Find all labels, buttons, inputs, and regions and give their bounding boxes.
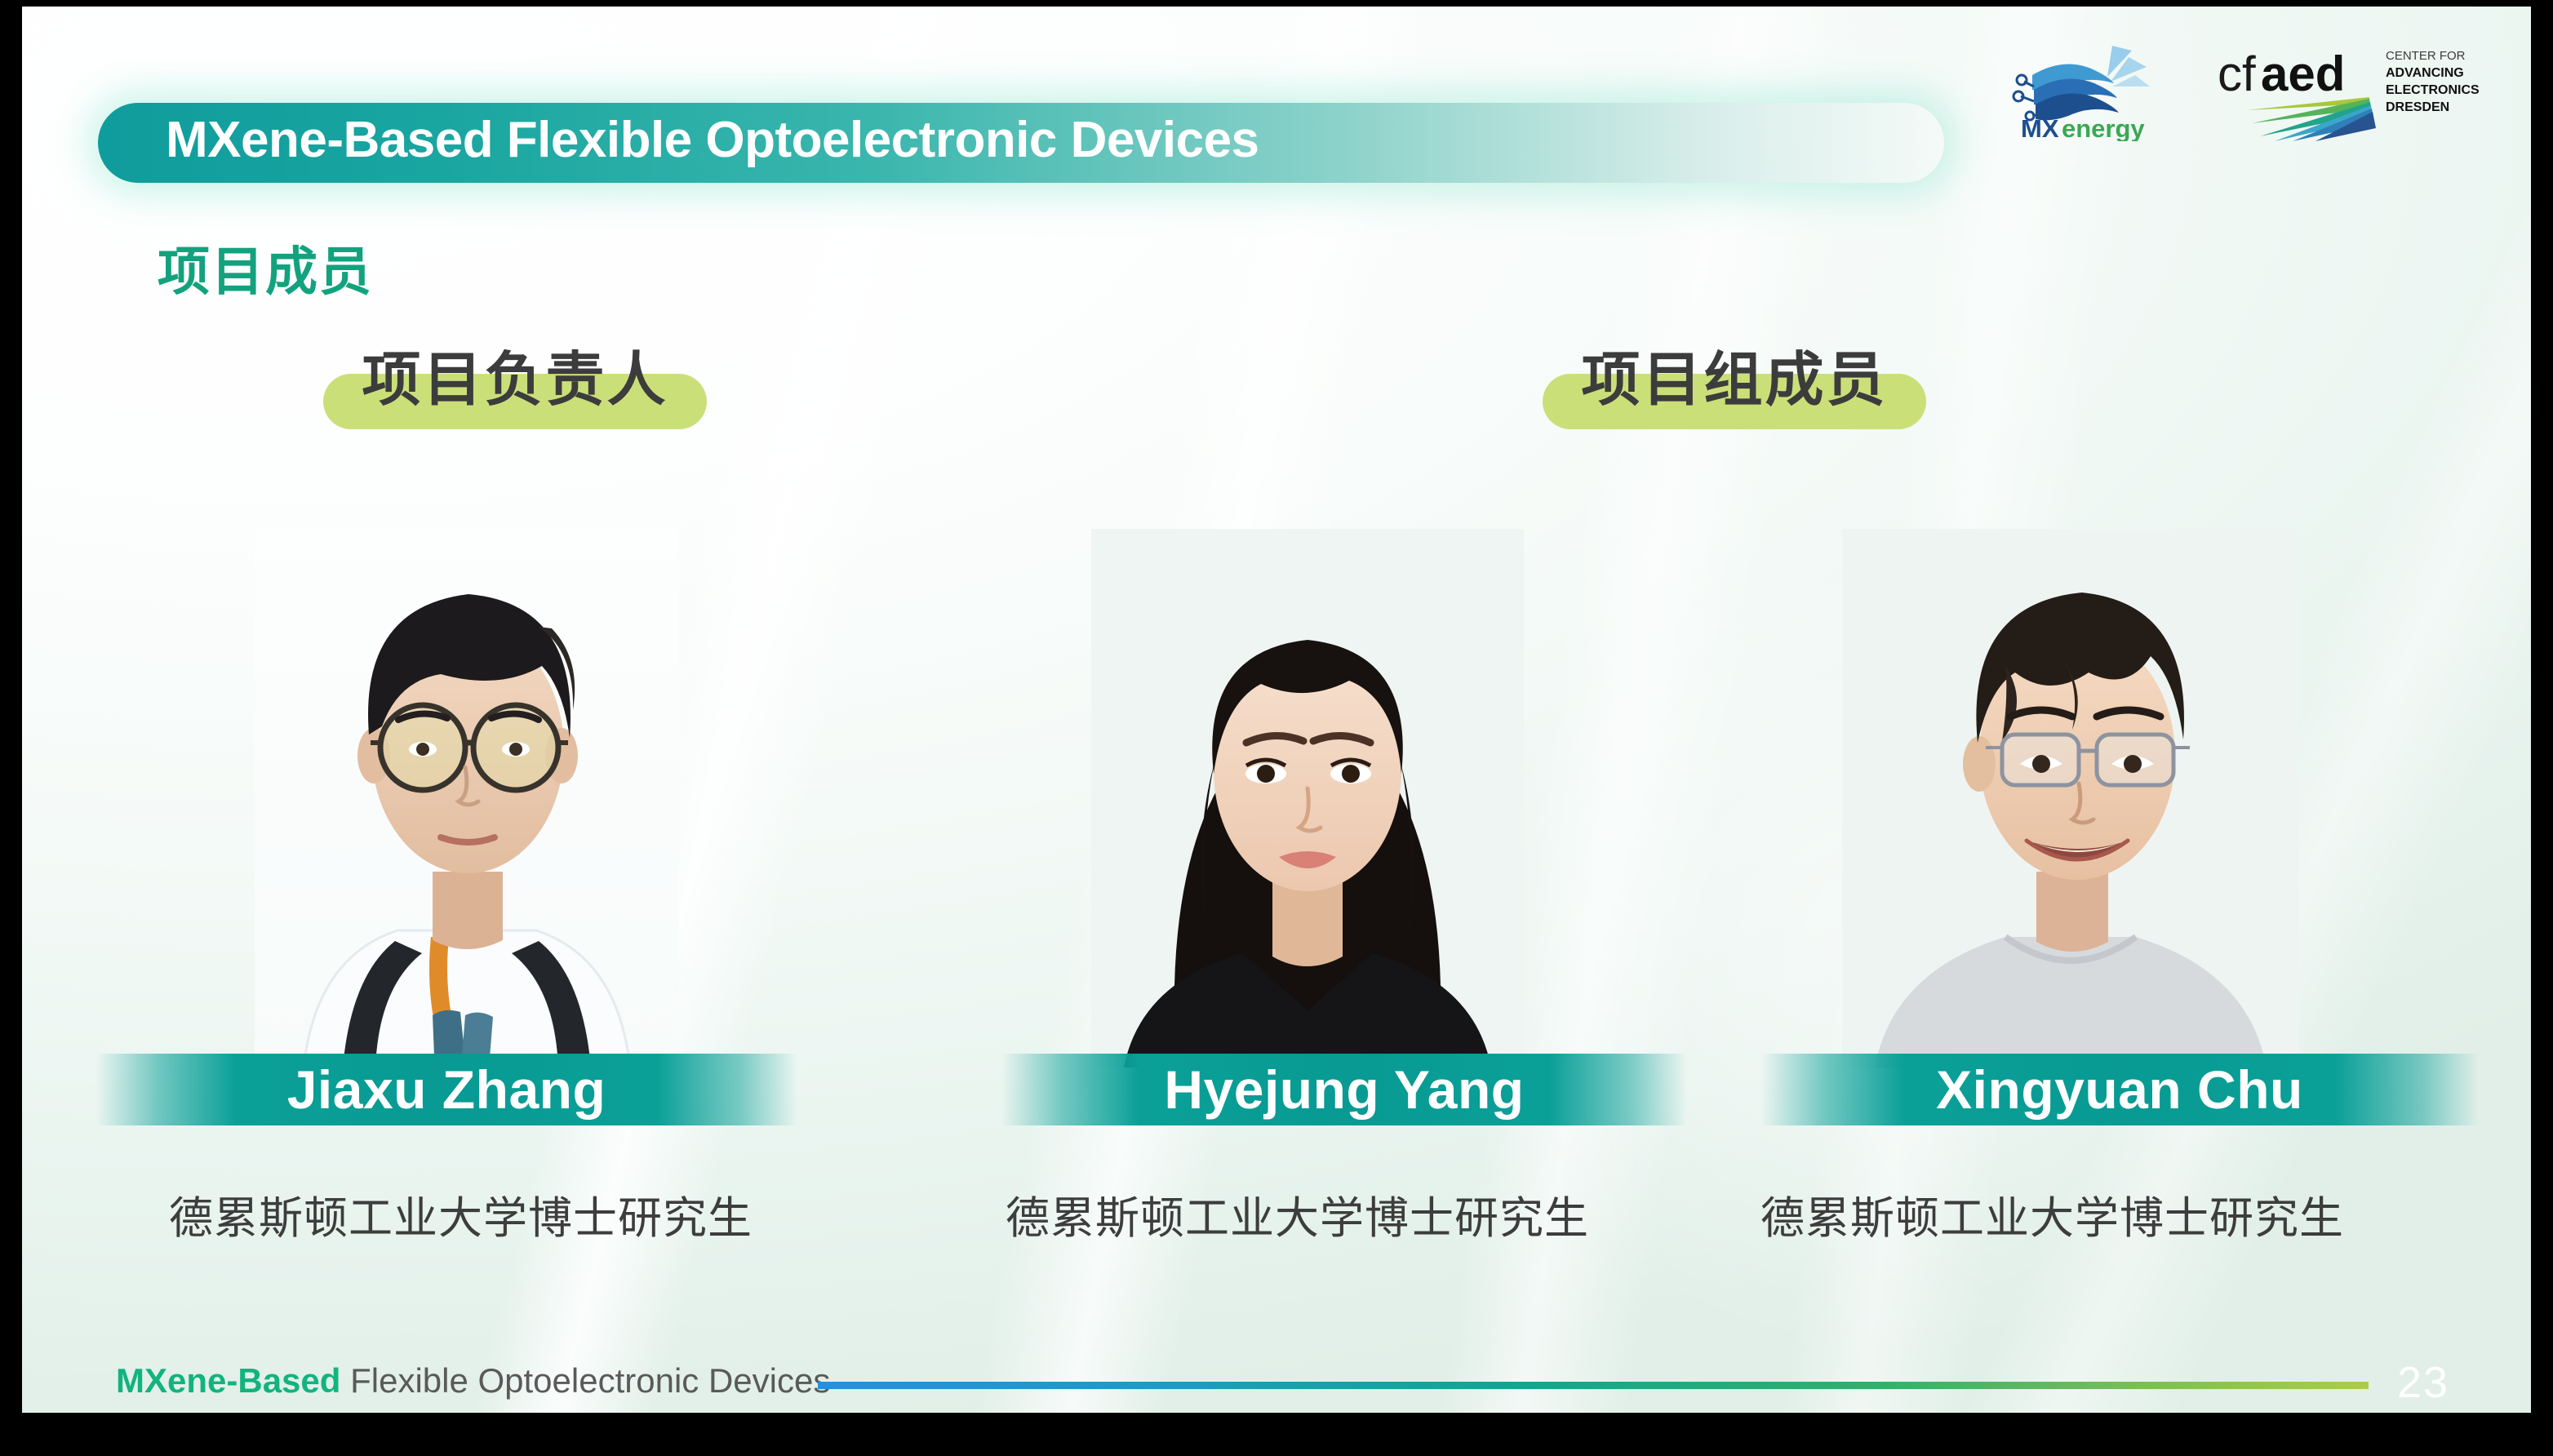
- member-affiliation: 德累斯顿工业大学博士研究生: [169, 1182, 753, 1246]
- section-heading: 项目成员: [158, 230, 373, 305]
- footer-title: MXene-Based Flexible Optoelectronic Devi…: [116, 1361, 830, 1401]
- member-name-bar: Jiaxu Zhang: [95, 1054, 797, 1125]
- svg-text:MX: MX: [2021, 114, 2059, 141]
- portrait-jiaxu-zhang: [255, 529, 679, 1068]
- svg-text:DRESDEN: DRESDEN: [2386, 100, 2449, 114]
- slide-canvas: MXene-Based Flexible Optoelectronic Devi…: [22, 7, 2531, 1413]
- member-name-bar: Xingyuan Chu: [1760, 1054, 2479, 1125]
- portrait-xingyuan-chu: [1842, 529, 2299, 1068]
- footer-title-rest: Flexible Optoelectronic Devices: [350, 1361, 830, 1400]
- footer-title-strong: MXene-Based: [116, 1361, 340, 1400]
- member-name: Hyejung Yang: [1164, 1059, 1524, 1121]
- portrait-hyejung-yang: [1091, 529, 1524, 1068]
- svg-text:cf: cf: [2218, 47, 2256, 101]
- svg-text:ELECTRONICS: ELECTRONICS: [2386, 83, 2480, 97]
- svg-text:ADVANCING: ADVANCING: [2386, 66, 2464, 80]
- member-name-bar: Hyejung Yang: [1001, 1054, 1687, 1125]
- member-affiliation: 德累斯顿工业大学博士研究生: [1760, 1182, 2344, 1246]
- mxenergy-logo: MX energy: [2009, 39, 2189, 141]
- svg-text:energy: energy: [2062, 114, 2145, 141]
- cfaed-logo: cf aed CENTER FOR ADVANCING ELECTRONICS …: [2218, 43, 2511, 141]
- svg-text:aed: aed: [2261, 47, 2345, 101]
- member-name: Jiaxu Zhang: [287, 1059, 606, 1121]
- footer-rule: [818, 1382, 2369, 1389]
- role-label-project-member: 项目组成员: [1543, 331, 1926, 417]
- member-name: Xingyuan Chu: [1936, 1059, 2303, 1121]
- page-title: MXene-Based Flexible Optoelectronic Devi…: [166, 111, 1259, 169]
- member-affiliation: 德累斯顿工业大学博士研究生: [1006, 1182, 1589, 1246]
- page-number: 23: [2397, 1357, 2449, 1408]
- role-label-project-lead: 项目负责人: [323, 331, 707, 417]
- svg-text:CENTER FOR: CENTER FOR: [2386, 49, 2466, 63]
